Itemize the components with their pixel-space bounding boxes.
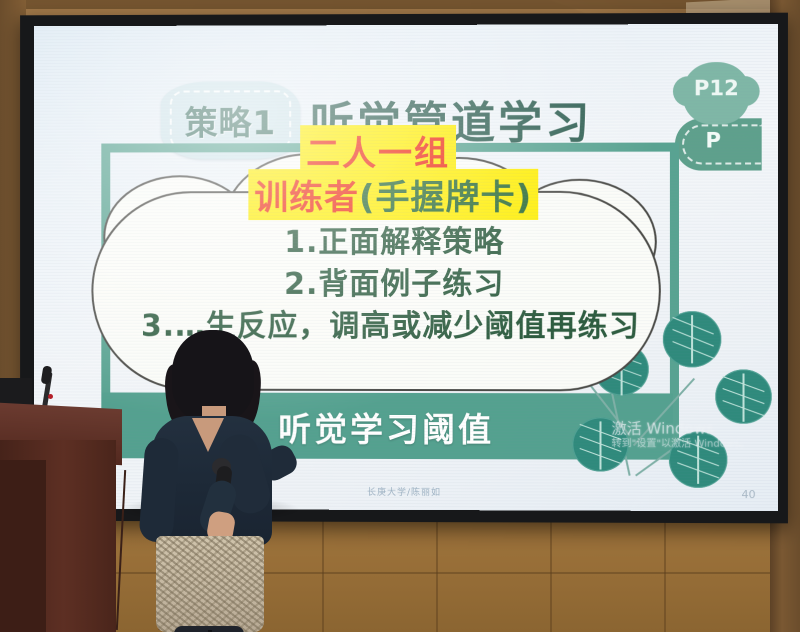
ceiling-edge [0,0,800,9]
highlight-line-2: 训练者(手握牌卡) [248,169,538,220]
bullet-1: 1.正面解释策略 [284,217,504,261]
presenter [130,330,290,632]
bullet-2: 2.背面例子练习 [284,259,504,303]
podium-mic-led [48,394,53,399]
arm-left [138,437,179,543]
leaf-icon [715,369,772,423]
page-badge-flower-label: P12 [683,76,750,100]
photo-scene: 策略1 听觉管道学习 P12 P [0,0,800,632]
page-badge-pill-label: P [685,128,741,152]
highlight-line-2-red: 训练者 [254,178,359,218]
slide-page-number: 40 [741,488,755,501]
podium-side [0,460,46,632]
page-badge: P12 P [675,62,762,171]
skirt [156,536,264,632]
highlight-line-2-green: (手握牌卡) [359,178,532,218]
leaf-icon [669,432,727,488]
